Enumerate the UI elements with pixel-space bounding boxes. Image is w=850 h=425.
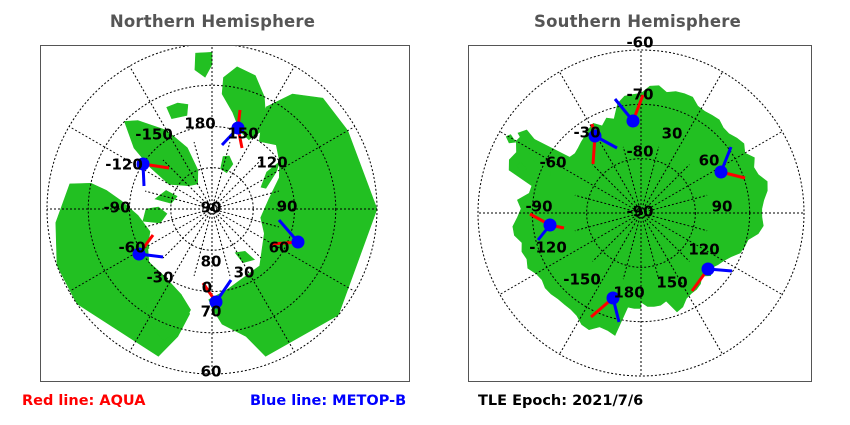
grid-label-northern-8: -120 bbox=[105, 158, 143, 173]
grid-label-northern-1: 30 bbox=[234, 266, 255, 281]
grid-label-southern-5: 180 bbox=[613, 286, 644, 301]
grid-label-northern-0: 0 bbox=[202, 281, 212, 296]
grid-label-northern-4: 120 bbox=[256, 156, 287, 171]
grid-label-southern-3: 120 bbox=[688, 243, 719, 258]
grid-label-northern-14: 80 bbox=[201, 255, 222, 270]
northern-map-svg bbox=[41, 46, 409, 381]
grid-label-northern-11: -30 bbox=[146, 271, 173, 286]
grid-label-northern-7: -150 bbox=[135, 128, 173, 143]
grid-label-southern-7: -120 bbox=[529, 241, 567, 256]
grid-label-northern-15: 90 bbox=[201, 201, 222, 216]
legend-tle-epoch: TLE Epoch: 2021/7/6 bbox=[478, 393, 643, 409]
southern-top-latitude-label: -60 bbox=[626, 36, 653, 51]
panel-southern-hemisphere: Southern Hemisphere bbox=[425, 0, 850, 390]
grid-label-northern-2: 60 bbox=[269, 241, 290, 256]
grid-label-southern-8: -90 bbox=[525, 200, 552, 215]
grid-label-southern-1: 60 bbox=[699, 154, 720, 169]
grid-label-northern-3: 90 bbox=[277, 200, 298, 215]
grid-label-southern-13: -90 bbox=[626, 205, 653, 220]
grid-label-southern-4: 150 bbox=[656, 276, 687, 291]
grid-label-southern-12: -80 bbox=[626, 145, 653, 160]
grid-label-southern-10: -30 bbox=[573, 126, 600, 141]
legend-blue-line-metop-b: Blue line: METOP-B bbox=[250, 393, 406, 409]
grid-label-southern-2: 90 bbox=[712, 200, 733, 215]
legend-red-line-aqua: Red line: AQUA bbox=[22, 393, 145, 409]
grid-label-northern-12: 60 bbox=[201, 365, 222, 380]
grid-label-northern-9: -90 bbox=[103, 201, 130, 216]
panel-northern-hemisphere: Northern Hemisphere 0306090120150180-150… bbox=[0, 0, 425, 390]
grid-label-southern-0: 30 bbox=[662, 127, 683, 142]
northern-plot-frame bbox=[40, 45, 410, 382]
figure-canvas: Northern Hemisphere 0306090120150180-150… bbox=[0, 0, 850, 425]
grid-label-southern-11: -70 bbox=[626, 88, 653, 103]
southern-title: Southern Hemisphere bbox=[425, 12, 850, 31]
grid-label-northern-10: -60 bbox=[118, 241, 145, 256]
grid-label-northern-5: 150 bbox=[227, 127, 258, 142]
grid-label-southern-6: -150 bbox=[563, 273, 601, 288]
grid-label-northern-6: 180 bbox=[184, 117, 215, 132]
northern-title: Northern Hemisphere bbox=[0, 12, 425, 31]
grid-label-northern-13: 70 bbox=[201, 305, 222, 320]
grid-label-southern-9: -60 bbox=[539, 156, 566, 171]
